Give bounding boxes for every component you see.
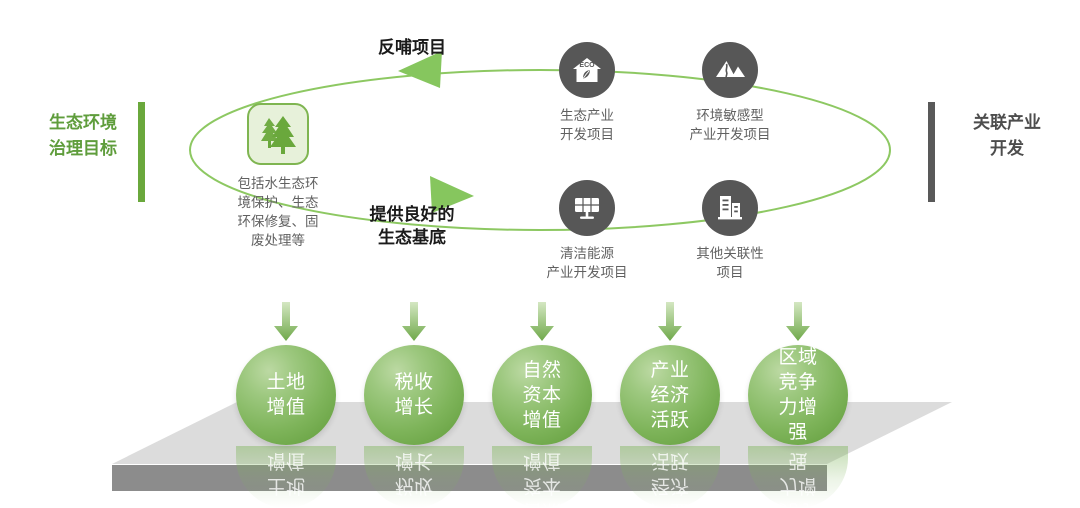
outcome-sphere-label: 区域 竞争 力增 强	[778, 345, 817, 445]
down-arrow-4	[657, 302, 683, 342]
sphere-reflection-label: 土地 增值	[236, 448, 336, 498]
outcome-sphere-label: 土地 增值	[266, 370, 305, 420]
source-node-caption: 包括水生态环 境保护、生态 环保修复、固 废处理等	[198, 174, 358, 250]
mountains-icon	[702, 42, 758, 98]
buildings-icon	[702, 180, 758, 236]
project-node-caption: 环境敏感型 产业开发项目	[645, 106, 815, 144]
source-node: 包括水生态环 境保护、生态 环保修复、固 废处理等	[198, 103, 358, 250]
forest-trees-icon	[247, 103, 309, 165]
sphere-reflection: 税收 增长	[364, 446, 464, 508]
down-arrow-3	[529, 302, 555, 342]
sphere-reflection: 土地 增值	[236, 446, 336, 508]
project-node-other: 其他关联性 项目	[645, 180, 815, 282]
sphere-reflection-label: 区域 竞争 力增 强	[748, 448, 848, 508]
outcome-sphere-label: 税收 增长	[394, 370, 433, 420]
sphere-reflection-label: 产业 经济 活跃	[620, 448, 720, 508]
diagram-canvas: 生态环境 治理目标 关联产业 开发 反哺项目 提供良好的 生态基底 包括水生态环…	[0, 0, 1080, 497]
svg-text:ECO: ECO	[579, 62, 595, 69]
sphere-reflection-label: 税收 增长	[364, 448, 464, 498]
sphere-reflection-label: 自然 资本 增值	[492, 448, 592, 508]
solar-panel-icon	[559, 180, 615, 236]
flow-label-top: 反哺项目	[322, 36, 502, 59]
outcome-sphere-natural-capital[interactable]: 自然 资本 增值	[492, 345, 592, 445]
outcome-sphere-label: 自然 资本 增值	[522, 358, 561, 433]
sphere-reflection: 自然 资本 增值	[492, 446, 592, 508]
sphere-reflection: 产业 经济 活跃	[620, 446, 720, 508]
down-arrow-5	[785, 302, 811, 342]
down-arrow-1	[273, 302, 299, 342]
outcome-sphere-tax-growth[interactable]: 税收 增长	[364, 345, 464, 445]
project-node-sensitive-industry: 环境敏感型 产业开发项目	[645, 42, 815, 144]
outcome-sphere-industry-economy[interactable]: 产业 经济 活跃	[620, 345, 720, 445]
outcome-sphere-label: 产业 经济 活跃	[650, 358, 689, 433]
sphere-reflection: 区域 竞争 力增 强	[748, 446, 848, 508]
outcome-sphere-land-value[interactable]: 土地 增值	[236, 345, 336, 445]
outcome-sphere-regional-competitiveness[interactable]: 区域 竞争 力增 强	[748, 345, 848, 445]
eco-house-icon: ECO	[559, 42, 615, 98]
project-node-caption: 其他关联性 项目	[645, 244, 815, 282]
down-arrow-2	[401, 302, 427, 342]
